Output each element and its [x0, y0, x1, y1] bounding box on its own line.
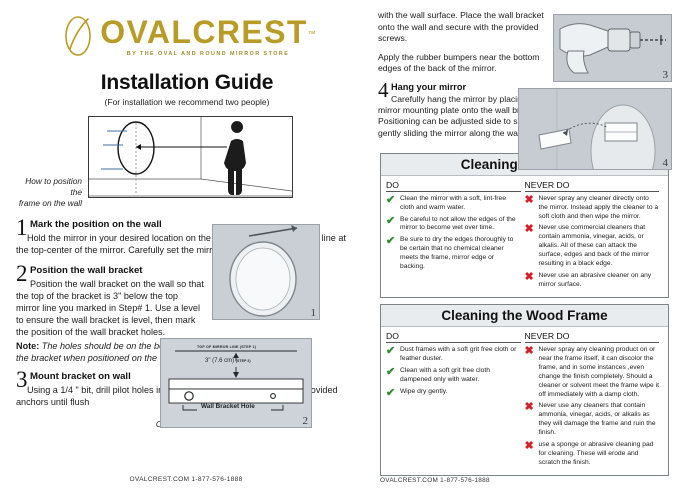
- cleaning-mirror-never-item: ✖ Never spray any cleaner directly onto …: [525, 195, 660, 222]
- cleaning-mirror-do-item: ✔ Be careful to not allow the edges of t…: [386, 216, 521, 234]
- photo-mirror: 1: [212, 224, 320, 320]
- cross-icon: ✖: [525, 402, 536, 413]
- cleaning-wood-frame-do-column: DO ✔ Dust frames with a soft grit free c…: [386, 331, 525, 470]
- check-icon: ✔: [386, 346, 397, 357]
- brand-tagline: BY THE OVAL AND ROUND MIRROR STORE: [100, 51, 316, 57]
- cleaning-wood-frame-never-text: Never spray any cleaning product on or n…: [539, 346, 660, 399]
- check-icon: ✔: [386, 216, 397, 227]
- bracket-top-line-label: TOP OF MIRROR LINE (STEP 1): [197, 345, 256, 349]
- brand-logo: OVALCREST™ BY THE OVAL AND ROUND MIRROR …: [16, 8, 358, 58]
- installation-guide-page: OVALCREST™ BY THE OVAL AND ROUND MIRROR …: [0, 0, 679, 489]
- right-intro-paragraph-2: Apply the rubber bumpers near the bottom…: [378, 52, 550, 75]
- right-intro-text: with the wall surface. Place the wall br…: [378, 10, 550, 75]
- step-3-number: 3: [16, 368, 28, 391]
- check-icon: ✔: [386, 367, 397, 378]
- footer-right: OVALCREST.COM 1-877-576-1888: [380, 477, 490, 484]
- bracket-dimension: 3" (7.6 cm) (STEP 2): [205, 358, 251, 364]
- cleaning-mirror-panel: Cleaning The Mirror DO ✔ Clean the mirro…: [380, 153, 669, 298]
- wall-diagram-caption: How to position the frame on the wall: [16, 116, 88, 210]
- hang-mirror-illustration: [519, 89, 671, 169]
- footer-left: OVALCREST.COM 1-877-576-1888: [0, 476, 372, 483]
- cleaning-mirror-columns: DO ✔ Clean the mirror with a soft, lint-…: [381, 176, 668, 297]
- cleaning-wood-frame-do-item: ✔ Dust frames with a soft grit free clot…: [386, 346, 521, 364]
- cleaning-wood-frame-do-item: ✔ Clean with a soft grit free cloth damp…: [386, 367, 521, 385]
- room-illustration: [89, 117, 292, 197]
- cross-icon: ✖: [525, 272, 536, 283]
- cleaning-wood-frame-title: Cleaning the Wood Frame: [381, 305, 668, 327]
- page-subtitle: (For installation we recommend two peopl…: [16, 97, 358, 107]
- left-column: OVALCREST™ BY THE OVAL AND ROUND MIRROR …: [0, 0, 372, 489]
- cleaning-wood-frame-columns: DO ✔ Dust frames with a soft grit free c…: [381, 327, 668, 475]
- cleaning-wood-frame-never-item: ✖ use a sponge or abrasive cleaning pad …: [525, 441, 660, 468]
- bracket-dimension-ref: (STEP 2): [236, 359, 251, 363]
- photo-drill-number: 3: [663, 69, 669, 81]
- cleaning-wood-frame-never-text: use a sponge or abrasive cleaning pad fo…: [539, 441, 660, 468]
- check-icon: ✔: [386, 236, 397, 247]
- cleaning-wood-frame-do-text: Dust frames with a soft grit free cloth …: [400, 346, 521, 364]
- cleaning-mirror-do-text: Be careful to not allow the edges of the…: [400, 216, 521, 234]
- cleaning-mirror-do-column: DO ✔ Clean the mirror with a soft, lint-…: [386, 180, 525, 292]
- mirror-illustration: [213, 225, 319, 319]
- cleaning-mirror-never-text: Never spray any cleaner directly onto th…: [539, 195, 660, 222]
- cleaning-wood-frame-do-item: ✔ Wipe dry gently.: [386, 388, 521, 399]
- check-icon: ✔: [386, 388, 397, 399]
- cross-icon: ✖: [525, 224, 536, 235]
- cleaning-mirror-do-item: ✔ Be sure to dry the edges thoroughly to…: [386, 236, 521, 271]
- cleaning-wood-frame-do-text: Clean with a soft grit free cloth dampen…: [400, 367, 521, 385]
- cleaning-mirror-do-text: Be sure to dry the edges thoroughly to b…: [400, 236, 521, 271]
- cleaning-mirror-never-text: Never use an abrasive cleaner on any mir…: [539, 272, 660, 290]
- cleaning-wood-frame-never-item: ✖ Never use any cleaners that contain am…: [525, 402, 660, 437]
- cross-icon: ✖: [525, 346, 536, 357]
- page-title: Installation Guide: [16, 71, 358, 95]
- wall-diagram-frame: [88, 116, 293, 198]
- photo-bracket-diagram: TOP OF MIRROR LINE (STEP 1) 3" (7.6 cm) …: [160, 338, 312, 428]
- cleaning-mirror-do-item: ✔ Clean the mirror with a soft, lint-fre…: [386, 195, 521, 213]
- step-2-number: 2: [16, 262, 28, 285]
- cleaning-mirror-never-item: ✖ Never use an abrasive cleaner on any m…: [525, 272, 660, 290]
- bracket-dimension-value: 3" (7.6 cm): [205, 358, 234, 364]
- cleaning-wood-frame-never-column: NEVER DO ✖ Never spray any cleaning prod…: [525, 331, 664, 470]
- cleaning-mirror-do-heading: DO: [386, 180, 521, 192]
- bracket-illustration: [161, 339, 311, 427]
- drill-illustration: [554, 15, 671, 81]
- step-4-number: 4: [378, 80, 389, 101]
- cleaning-wood-frame-do-text: Wipe dry gently.: [400, 388, 447, 397]
- step-1-number: 1: [16, 216, 28, 239]
- photo-hang-mirror: 4: [518, 88, 672, 170]
- cleaning-mirror-never-column: NEVER DO ✖ Never spray any cleaner direc…: [525, 180, 664, 292]
- step-2-body: Position the wall bracket on the wall so…: [16, 278, 204, 338]
- photo-drill: 3: [553, 14, 672, 82]
- check-icon: ✔: [386, 195, 397, 206]
- trademark-symbol: ™: [308, 29, 316, 38]
- cross-icon: ✖: [525, 441, 536, 452]
- cleaning-mirror-never-text: Never use commercial cleaners that conta…: [539, 224, 660, 268]
- step-2-note-label: Note:: [16, 341, 39, 351]
- cleaning-mirror-never-heading: NEVER DO: [525, 180, 660, 192]
- wall-position-diagram: How to position the frame on the wall: [16, 116, 358, 210]
- cleaning-wood-frame-panel: Cleaning the Wood Frame DO ✔ Dust frames…: [380, 304, 669, 476]
- cleaning-wood-frame-never-text: Never use any cleaners that contain ammo…: [539, 402, 660, 437]
- cleaning-wood-frame-never-heading: NEVER DO: [525, 331, 660, 343]
- bracket-hole-label: Wall Bracket Hole: [201, 403, 255, 410]
- photo-bracket-number: 2: [303, 415, 309, 427]
- cleaning-mirror-never-item: ✖ Never use commercial cleaners that con…: [525, 224, 660, 268]
- cross-icon: ✖: [525, 195, 536, 206]
- brand-name: OVALCREST: [100, 14, 308, 50]
- oval-swirl-icon: [58, 15, 98, 57]
- cleaning-wood-frame-do-heading: DO: [386, 331, 521, 343]
- photo-hang-number: 4: [663, 157, 669, 169]
- cleaning-wood-frame-never-item: ✖ Never spray any cleaning product on or…: [525, 346, 660, 399]
- photo-mirror-number: 1: [311, 307, 317, 319]
- right-intro-paragraph-1: with the wall surface. Place the wall br…: [378, 10, 550, 45]
- brand-name-row: OVALCREST™: [100, 16, 316, 48]
- cleaning-mirror-do-text: Clean the mirror with a soft, lint-free …: [400, 195, 521, 213]
